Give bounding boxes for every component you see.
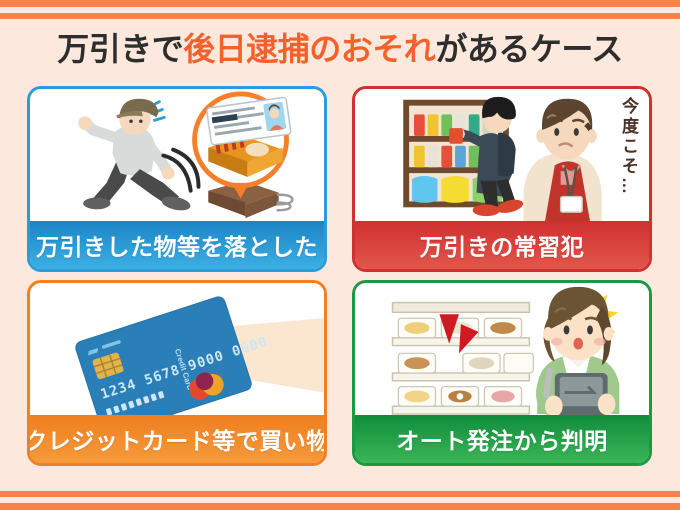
bottom-rule-lower	[0, 503, 680, 510]
illustration-running-person	[30, 89, 324, 221]
card-illustration-repeat-offender: 今度こそ…	[355, 89, 649, 221]
case-card-label-repeat-offender: 万引きの常習犯	[355, 221, 649, 269]
bottom-rule-upper	[0, 491, 680, 497]
top-rule-upper	[0, 0, 680, 7]
page-title: 万引きで後日逮捕のおそれがあるケース	[0, 24, 680, 70]
title-part-1: 万引きで	[57, 31, 183, 67]
case-card-credit-card[interactable]: 1234 5678 9000 0000 Credit Card	[27, 280, 327, 466]
case-card-auto-order[interactable]: オート発注から判明	[352, 280, 652, 466]
case-card-grid: 万引きした物等を落とした	[27, 86, 655, 466]
title-accent: 後日逮捕のおそれ	[183, 31, 435, 67]
case-card-label-dropped-item: 万引きした物等を落とした	[30, 221, 324, 269]
clerk-speech-bubble-text: 今度こそ…	[616, 97, 641, 197]
case-card-repeat-offender[interactable]: 今度こそ… 万引きの常習犯	[352, 86, 652, 272]
case-card-dropped-item[interactable]: 万引きした物等を落とした	[27, 86, 327, 272]
illustration-shoplifter-and-clerk	[355, 89, 649, 221]
title-part-2: があるケース	[435, 31, 622, 67]
case-card-label-credit-card: クレジットカード等で買い物	[30, 415, 324, 463]
card-illustration-dropped-item	[30, 89, 324, 221]
top-rule-lower	[0, 13, 680, 19]
card-illustration-credit-card: 1234 5678 9000 0000 Credit Card	[30, 283, 324, 415]
card-illustration-auto-order	[355, 283, 649, 415]
illustration-hand-with-credit-card: 1234 5678 9000 0000 Credit Card	[30, 283, 324, 415]
case-card-label-auto-order: オート発注から判明	[355, 415, 649, 463]
illustration-staff-with-tablet	[355, 283, 649, 415]
